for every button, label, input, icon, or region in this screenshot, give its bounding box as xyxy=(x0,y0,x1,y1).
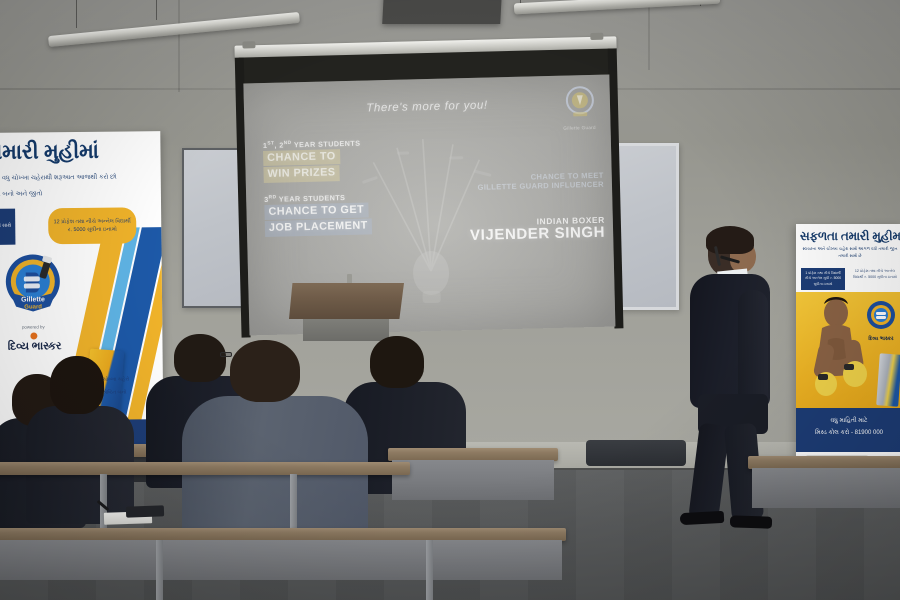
slide-title: There's more for you! xyxy=(244,97,610,118)
wooden-podium xyxy=(289,283,404,339)
slide-block-third-year: 3RD YEAR STUDENTS CHANCE TO GET JOB PLAC… xyxy=(264,191,415,237)
presenter-arm xyxy=(738,290,768,408)
slide-headline-2-line1: CHANCE TO GET xyxy=(264,202,368,220)
desk-row-right xyxy=(748,456,900,530)
banner-left-line1: અને વધુ ચોખ્ખા ચહેરાથી શરૂઆત આજથી કરો છો xyxy=(0,173,139,183)
standee-banner-right: સફળતા તમારી મુહીમાં સ્વચ્છતા અને ચોખ્ખા … xyxy=(796,224,900,458)
desk-row-front xyxy=(0,528,566,600)
banner-left-powered-by: powered by xyxy=(8,324,58,330)
slide-block-influencer-teaser: CHANCE TO MEET GILLETTE GUARD INFLUENCER xyxy=(438,171,604,194)
presenter-leg-back xyxy=(688,423,729,522)
light-wire-left-b xyxy=(156,0,157,20)
slide-headline-2: CHANCE TO GET JOB PLACEMENT xyxy=(264,200,415,237)
banner-right-blue-footer: વધુ માહિતી માટે મિસ્ડ કોલ કરો - 81900 00… xyxy=(796,408,900,452)
gillette-guard-seal-icon xyxy=(564,85,597,122)
light-wire-left-a xyxy=(76,0,77,28)
desk-row-middle-right xyxy=(388,448,558,518)
banner-left-publisher: દિવ્ય ભાસ્કર xyxy=(0,340,71,354)
presenter-shoe-back xyxy=(680,511,725,525)
svg-text:Guard: Guard xyxy=(24,304,42,310)
chair-back xyxy=(586,440,686,466)
ceiling-mounted-panel xyxy=(382,0,502,24)
desk-legs xyxy=(0,540,566,600)
boxer-photo-illustration xyxy=(808,296,870,408)
attendee-head xyxy=(370,336,424,388)
banner-right-heading: સફળતા તમારી મુહીમાં xyxy=(800,229,900,244)
banner-left-yellow-chip: 12 પ્રોફેશ તથા નીચે અન્નેલ વિદ્યાર્થી ર.… xyxy=(48,207,136,244)
attendee-head xyxy=(230,340,300,402)
banner-left-line2: સારો બનો અને જીતો xyxy=(0,190,119,199)
gillette-guard-seal-icon: Gillette Guard xyxy=(2,252,65,315)
desk-front-panel xyxy=(392,460,554,500)
banner-right-foot-line2: મિસ્ડ કોલ કરો - 81900 000 xyxy=(796,430,900,437)
wall-seam-vertical-left xyxy=(178,0,180,92)
screen-bracket-left xyxy=(242,41,255,48)
banner-right-subline: સ્વચ્છતા અને ચોખ્ખા ચહેરા સાથે આગળ વધો ત… xyxy=(802,246,898,259)
attendee-head xyxy=(50,356,104,414)
gillette-guard-seal-icon xyxy=(866,300,896,330)
svg-text:Gillette: Gillette xyxy=(21,296,45,303)
slide-headline-1: CHANCE TO WIN PRIZES xyxy=(263,147,404,183)
slide-headline-1-line2: WIN PRIZES xyxy=(263,166,339,183)
slide-block-celebrity-name: INDIAN BOXER VIJENDER SINGH xyxy=(425,215,606,246)
screen-bracket-right xyxy=(590,33,603,40)
slide-headline-2-line2: JOB PLACEMENT xyxy=(265,219,372,237)
banner-right-publisher: દિવ્ય ભાસ્કર xyxy=(864,336,898,342)
product-razor-pack xyxy=(876,353,900,406)
tablet-device xyxy=(126,505,164,517)
podium-top xyxy=(289,283,404,319)
banner-left-navy-chip: સફળતા તમારી સાથે xyxy=(0,209,15,246)
slide-headline-1-line1: CHANCE TO xyxy=(263,149,340,166)
slide-logo-caption: Gillette Guard xyxy=(557,125,603,131)
banner-right-foot-line1: વધુ માહિતી માટે xyxy=(796,418,900,425)
banner-left-heading: તમારી મુહીમાં xyxy=(0,139,139,165)
classroom-presentation-scene: There's more for you! Gillette Guard 1ST… xyxy=(0,0,900,600)
slide-block-first-second-year: 1ST, 2ND YEAR STUDENTS CHANCE TO WIN PRI… xyxy=(263,138,404,183)
presenter-hair xyxy=(706,226,754,254)
bhaskar-sun-icon xyxy=(30,332,37,339)
banner-right-yellow-note: 12 પ્રોફેશ તથા નીચે અન્નેલ વિદ્યાર્થી ર.… xyxy=(852,268,898,280)
banner-right-navy-chip: 1 પ્રોફેશ તથા નીચે વિદ્યાર્થી નીચે અન્ને… xyxy=(801,268,845,290)
slide-celebrity-name: VIJENDER SINGH xyxy=(425,225,605,246)
wall-seam-vertical-right xyxy=(648,0,650,70)
desk-front-panel xyxy=(752,468,900,508)
desk-legs xyxy=(0,474,410,534)
